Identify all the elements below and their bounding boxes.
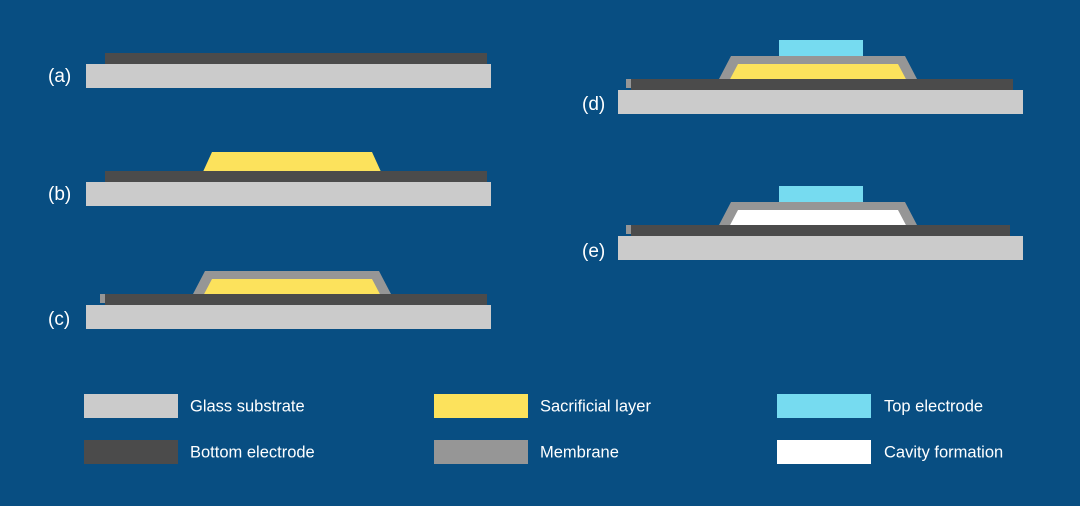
- legend-label-sacrificial-layer: Sacrificial layer: [540, 397, 651, 415]
- panel-d-bottom-electrode: [631, 79, 1013, 90]
- legend-swatch-cavity-formation: [777, 440, 871, 464]
- panel-c-bottom-electrode: [105, 294, 487, 305]
- panel-c-label: (c): [48, 309, 70, 330]
- legend-swatch-sacrificial-layer: [434, 394, 528, 418]
- process-flow-figure: (a) (b) (c) (d): [0, 0, 1080, 506]
- legend-label-glass-substrate: Glass substrate: [190, 397, 305, 415]
- panel-d-label: (d): [582, 94, 605, 115]
- panel-a-label: (a): [48, 66, 71, 87]
- diagram-canvas: (a) (b) (c) (d): [0, 0, 1080, 506]
- panel-e-glass-substrate: [618, 236, 1023, 260]
- legend-item-membrane: Membrane: [434, 440, 619, 464]
- panel-b-sacrificial-layer: [202, 152, 382, 174]
- panel-d-top-electrode: [779, 40, 863, 57]
- legend-label-bottom-electrode: Bottom electrode: [190, 443, 315, 461]
- legend-item-glass-substrate: Glass substrate: [84, 394, 305, 418]
- panel-d-glass-substrate: [618, 90, 1023, 114]
- panel-a: (a): [48, 53, 491, 88]
- legend-item-sacrificial-layer: Sacrificial layer: [434, 394, 651, 418]
- legend-swatch-top-electrode: [777, 394, 871, 418]
- panel-b-glass-substrate: [86, 182, 491, 206]
- panel-a-bottom-electrode: [105, 53, 487, 64]
- panel-e-label: (e): [582, 241, 605, 262]
- legend-label-membrane: Membrane: [540, 443, 619, 461]
- legend-swatch-membrane: [434, 440, 528, 464]
- legend-item-cavity-formation: Cavity formation: [777, 440, 1003, 464]
- legend-label-top-electrode: Top electrode: [884, 397, 983, 415]
- panel-e-top-electrode: [779, 186, 863, 203]
- panel-b-bottom-electrode: [105, 171, 487, 182]
- legend-label-cavity-formation: Cavity formation: [884, 443, 1003, 461]
- panel-a-glass-substrate: [86, 64, 491, 88]
- panel-b-label: (b): [48, 184, 71, 205]
- legend-swatch-glass-substrate: [84, 394, 178, 418]
- legend-item-bottom-electrode: Bottom electrode: [84, 440, 315, 464]
- legend-swatch-bottom-electrode: [84, 440, 178, 464]
- panel-e-bottom-electrode: [631, 225, 1010, 236]
- panel-c-glass-substrate: [86, 305, 491, 329]
